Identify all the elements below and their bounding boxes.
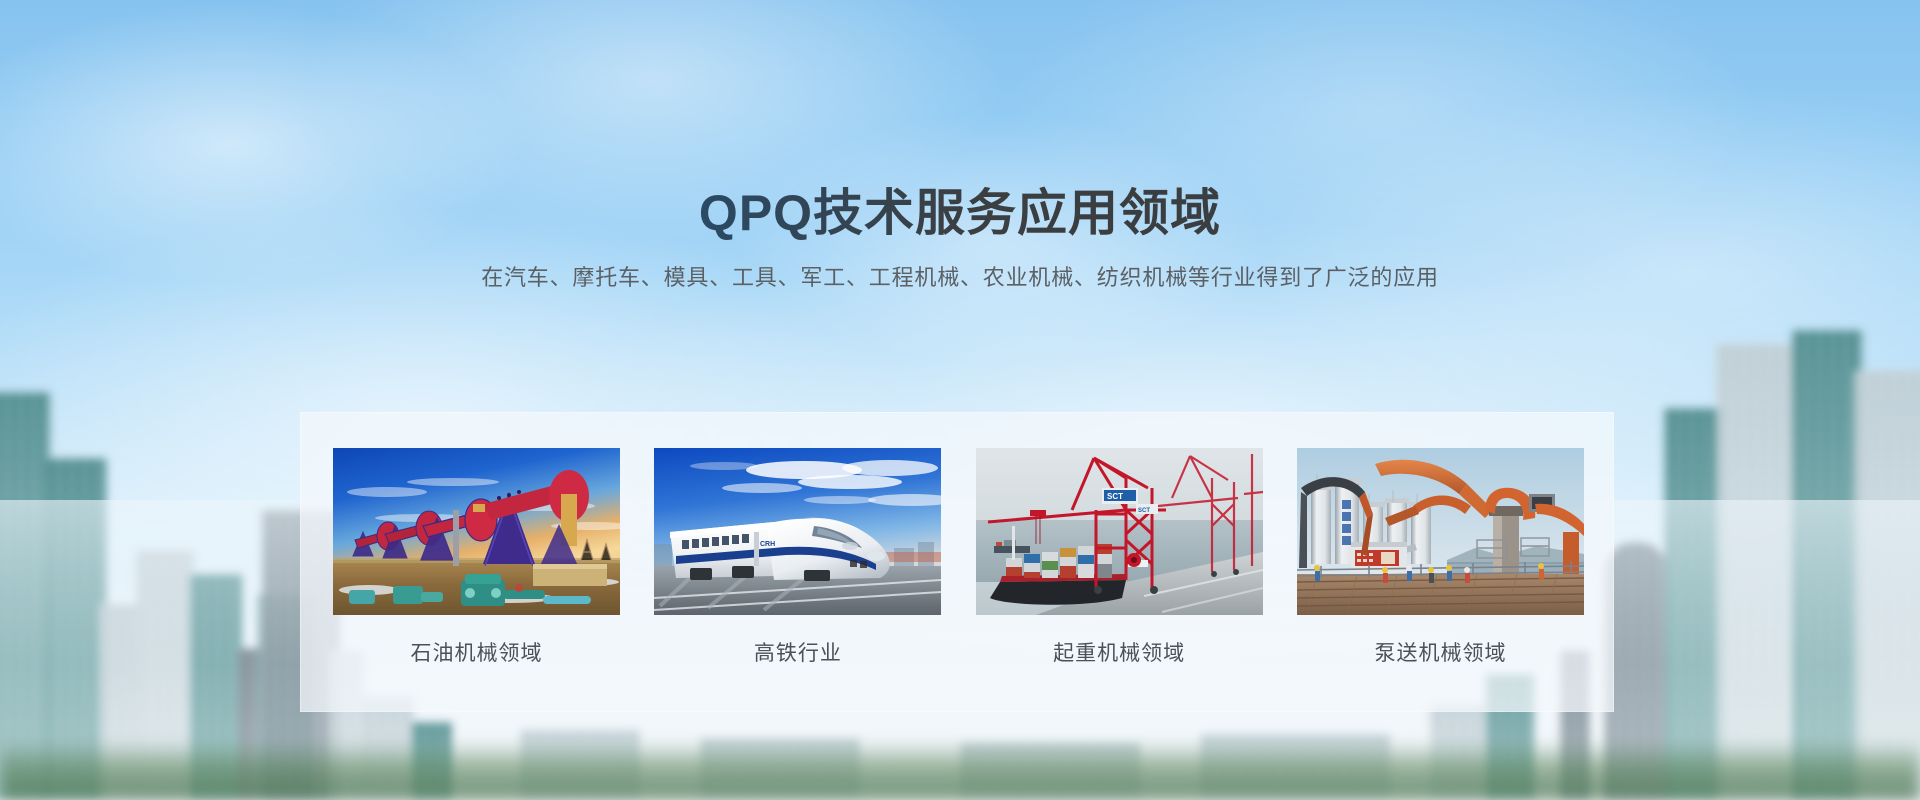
oil-pumpjacks-photo[interactable] bbox=[333, 448, 620, 615]
svg-text:CRH: CRH bbox=[760, 541, 775, 548]
concrete-pumping-site-photo[interactable] bbox=[1297, 448, 1584, 615]
tree-line bbox=[0, 740, 1920, 800]
page-subtitle: 在汽车、摩托车、模具、工具、军工、工程机械、农业机械、纺织机械等行业得到了广泛的… bbox=[0, 263, 1920, 294]
card-label: 起重机械领域 bbox=[976, 637, 1263, 667]
building bbox=[1792, 330, 1862, 800]
application-card[interactable]: CRH bbox=[654, 448, 941, 667]
application-card[interactable]: 泵送机械领域 bbox=[1297, 448, 1584, 667]
card-label: 高铁行业 bbox=[654, 637, 941, 667]
application-fields-panel: 石油机械领域 bbox=[300, 412, 1614, 712]
building bbox=[1854, 370, 1920, 800]
svg-text:SCT: SCT bbox=[1138, 508, 1150, 514]
heading-block: QPQ技术服务应用领域 在汽车、摩托车、模具、工具、军工、工程机械、农业机械、纺… bbox=[0, 186, 1920, 294]
port-gantry-cranes-photo[interactable]: SCT SCT bbox=[976, 448, 1263, 615]
application-card[interactable]: 石油机械领域 bbox=[333, 448, 620, 667]
building bbox=[1716, 344, 1800, 800]
svg-text:SCT: SCT bbox=[1107, 492, 1123, 501]
card-label: 泵送机械领域 bbox=[1297, 637, 1584, 667]
building bbox=[0, 392, 50, 800]
card-label: 石油机械领域 bbox=[333, 637, 620, 667]
application-card-list: 石油机械领域 bbox=[333, 448, 1584, 667]
page-title: QPQ技术服务应用领域 bbox=[0, 186, 1920, 241]
application-card[interactable]: SCT SCT 起重机械领域 bbox=[976, 448, 1263, 667]
high-speed-train-photo[interactable]: CRH bbox=[654, 448, 941, 615]
